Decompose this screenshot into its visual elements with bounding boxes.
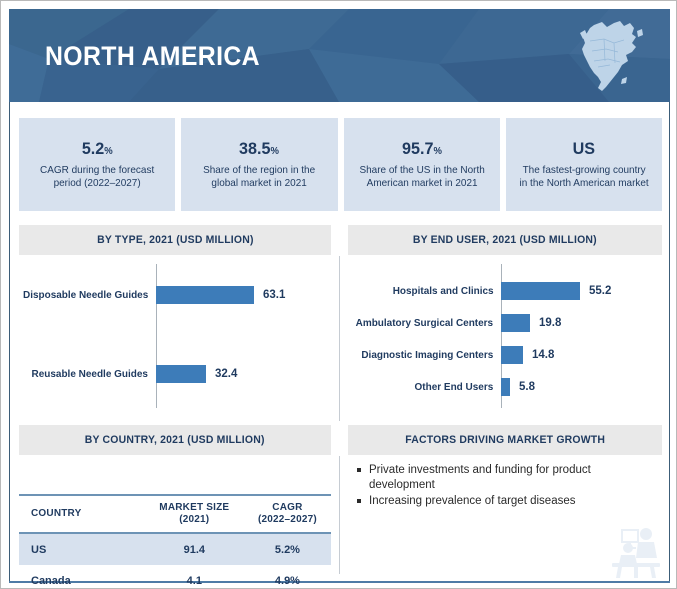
region-title: NORTH AMERICA xyxy=(45,41,260,72)
bar-row: Reusable Needle Guides 32.4 xyxy=(156,365,237,383)
bar-value: 55.2 xyxy=(580,285,611,297)
list-item: Increasing prevalence of target diseases xyxy=(369,494,643,509)
list-item: Private investments and funding for prod… xyxy=(369,463,643,493)
column-header-country: COUNTRY xyxy=(19,495,145,533)
bar-value: 32.4 xyxy=(206,368,237,380)
bar-diagnostic-imaging-centers xyxy=(501,346,523,364)
cell-cagr: 4.9% xyxy=(244,565,331,589)
bar-ambulatory-surgical-centers xyxy=(501,314,530,332)
kpi-card-fastest-growing: US The fastest-growing country in the No… xyxy=(506,118,662,211)
factors-list: Private investments and funding for prod… xyxy=(353,463,643,509)
kpi-number: 5.2 xyxy=(82,139,104,158)
kpi-unit: % xyxy=(271,146,279,157)
kpi-card-region-share: 38.5% Share of the region in the global … xyxy=(181,118,337,211)
bar-label: Reusable Needle Guides xyxy=(32,368,156,380)
cell-market-size: 91.4 xyxy=(145,533,244,565)
north-america-map-icon xyxy=(574,19,646,95)
bar-label: Ambulatory Surgical Centers xyxy=(356,317,501,329)
panel-header-factors-label: FACTORS DRIVING MARKET GROWTH xyxy=(405,434,605,446)
kpi-label: Share of the US in the North American ma… xyxy=(355,164,488,191)
kpi-card-us-share: 95.7% Share of the US in the North Ameri… xyxy=(344,118,500,211)
bar-row: Diagnostic Imaging Centers 14.8 xyxy=(501,346,554,364)
kpi-number: 38.5 xyxy=(239,139,270,158)
factors-list-container: Private investments and funding for prod… xyxy=(353,463,643,510)
table-body: US 91.4 5.2% Canada 4.1 4.9% xyxy=(19,533,331,589)
bar-row: Hospitals and Clinics 55.2 xyxy=(501,282,611,300)
column-divider-top xyxy=(339,256,340,421)
bar-label: Hospitals and Clinics xyxy=(393,285,501,297)
column-header-cagr-line1: CAGR xyxy=(244,502,331,514)
left-rail xyxy=(9,102,10,582)
column-header-cagr-line2: (2022–2027) xyxy=(244,514,331,526)
column-header-market-size: MARKET SIZE (2021) xyxy=(145,495,244,533)
bar-reusable-needle-guides xyxy=(156,365,206,383)
bar-label: Diagnostic Imaging Centers xyxy=(361,349,501,361)
bar-row: Ambulatory Surgical Centers 19.8 xyxy=(501,314,561,332)
kpi-label: The fastest-growing country in the North… xyxy=(517,164,650,191)
bar-other-end-users xyxy=(501,378,510,396)
bar-hospitals-and-clinics xyxy=(501,282,580,300)
kpi-value: 38.5% xyxy=(239,139,279,162)
column-divider-bottom xyxy=(339,456,340,574)
panel-header-by-country-label: BY COUNTRY, 2021 (USD MILLION) xyxy=(85,434,265,446)
panel-header-by-type: BY TYPE, 2021 (USD MILLION) xyxy=(19,225,331,255)
cell-cagr: 5.2% xyxy=(244,533,331,565)
infographic-page: NORTH AMERICA 5.2% CAGR during the xyxy=(0,0,677,589)
bar-value: 14.8 xyxy=(523,349,554,361)
table-row: US 91.4 5.2% xyxy=(19,533,331,565)
panel-header-by-end-user: BY END USER, 2021 (USD MILLION) xyxy=(348,225,662,255)
table-row: Canada 4.1 4.9% xyxy=(19,565,331,589)
panel-header-by-country: BY COUNTRY, 2021 (USD MILLION) xyxy=(19,425,331,455)
bar-row: Disposable Needle Guides 63.1 xyxy=(156,286,285,304)
kpi-value: US xyxy=(573,139,595,162)
table-header-row: COUNTRY MARKET SIZE (2021) CAGR (2022–20… xyxy=(19,495,331,533)
bar-value: 19.8 xyxy=(530,317,561,329)
kpi-label: Share of the region in the global market… xyxy=(193,164,326,191)
bar-disposable-needle-guides xyxy=(156,286,254,304)
kpi-card-row: 5.2% CAGR during the forecast period (20… xyxy=(19,118,662,211)
bar-value: 63.1 xyxy=(254,289,285,301)
kpi-value: 5.2% xyxy=(82,139,113,162)
kpi-label: CAGR during the forecast period (2022–20… xyxy=(31,164,164,191)
kpi-card-cagr: 5.2% CAGR during the forecast period (20… xyxy=(19,118,175,211)
header-banner: NORTH AMERICA xyxy=(9,9,670,102)
kpi-value: 95.7% xyxy=(402,139,442,162)
kpi-number: 95.7 xyxy=(402,139,433,158)
cell-market-size: 4.1 xyxy=(145,565,244,589)
person-at-desk-watermark-icon xyxy=(608,524,664,578)
bar-row: Other End Users 5.8 xyxy=(501,378,535,396)
panel-header-by-end-user-label: BY END USER, 2021 (USD MILLION) xyxy=(413,234,597,246)
kpi-unit: % xyxy=(104,146,112,157)
kpi-unit: % xyxy=(433,146,441,157)
panel-header-factors: FACTORS DRIVING MARKET GROWTH xyxy=(348,425,662,455)
country-table: COUNTRY MARKET SIZE (2021) CAGR (2022–20… xyxy=(19,494,331,589)
table-header: COUNTRY MARKET SIZE (2021) CAGR (2022–20… xyxy=(19,495,331,533)
bar-label: Disposable Needle Guides xyxy=(23,289,156,301)
chart-by-end-user: Hospitals and Clinics 55.2 Ambulatory Su… xyxy=(348,264,662,416)
right-rail xyxy=(669,102,670,582)
bar-label: Other End Users xyxy=(415,381,501,393)
chart-by-type: Disposable Needle Guides 63.1 Reusable N… xyxy=(19,264,331,416)
bar-value: 5.8 xyxy=(510,381,535,393)
cell-country: Canada xyxy=(19,565,145,589)
kpi-number: US xyxy=(573,139,595,158)
column-header-cagr: CAGR (2022–2027) xyxy=(244,495,331,533)
panel-header-by-type-label: BY TYPE, 2021 (USD MILLION) xyxy=(97,234,253,246)
cell-country: US xyxy=(19,533,145,565)
